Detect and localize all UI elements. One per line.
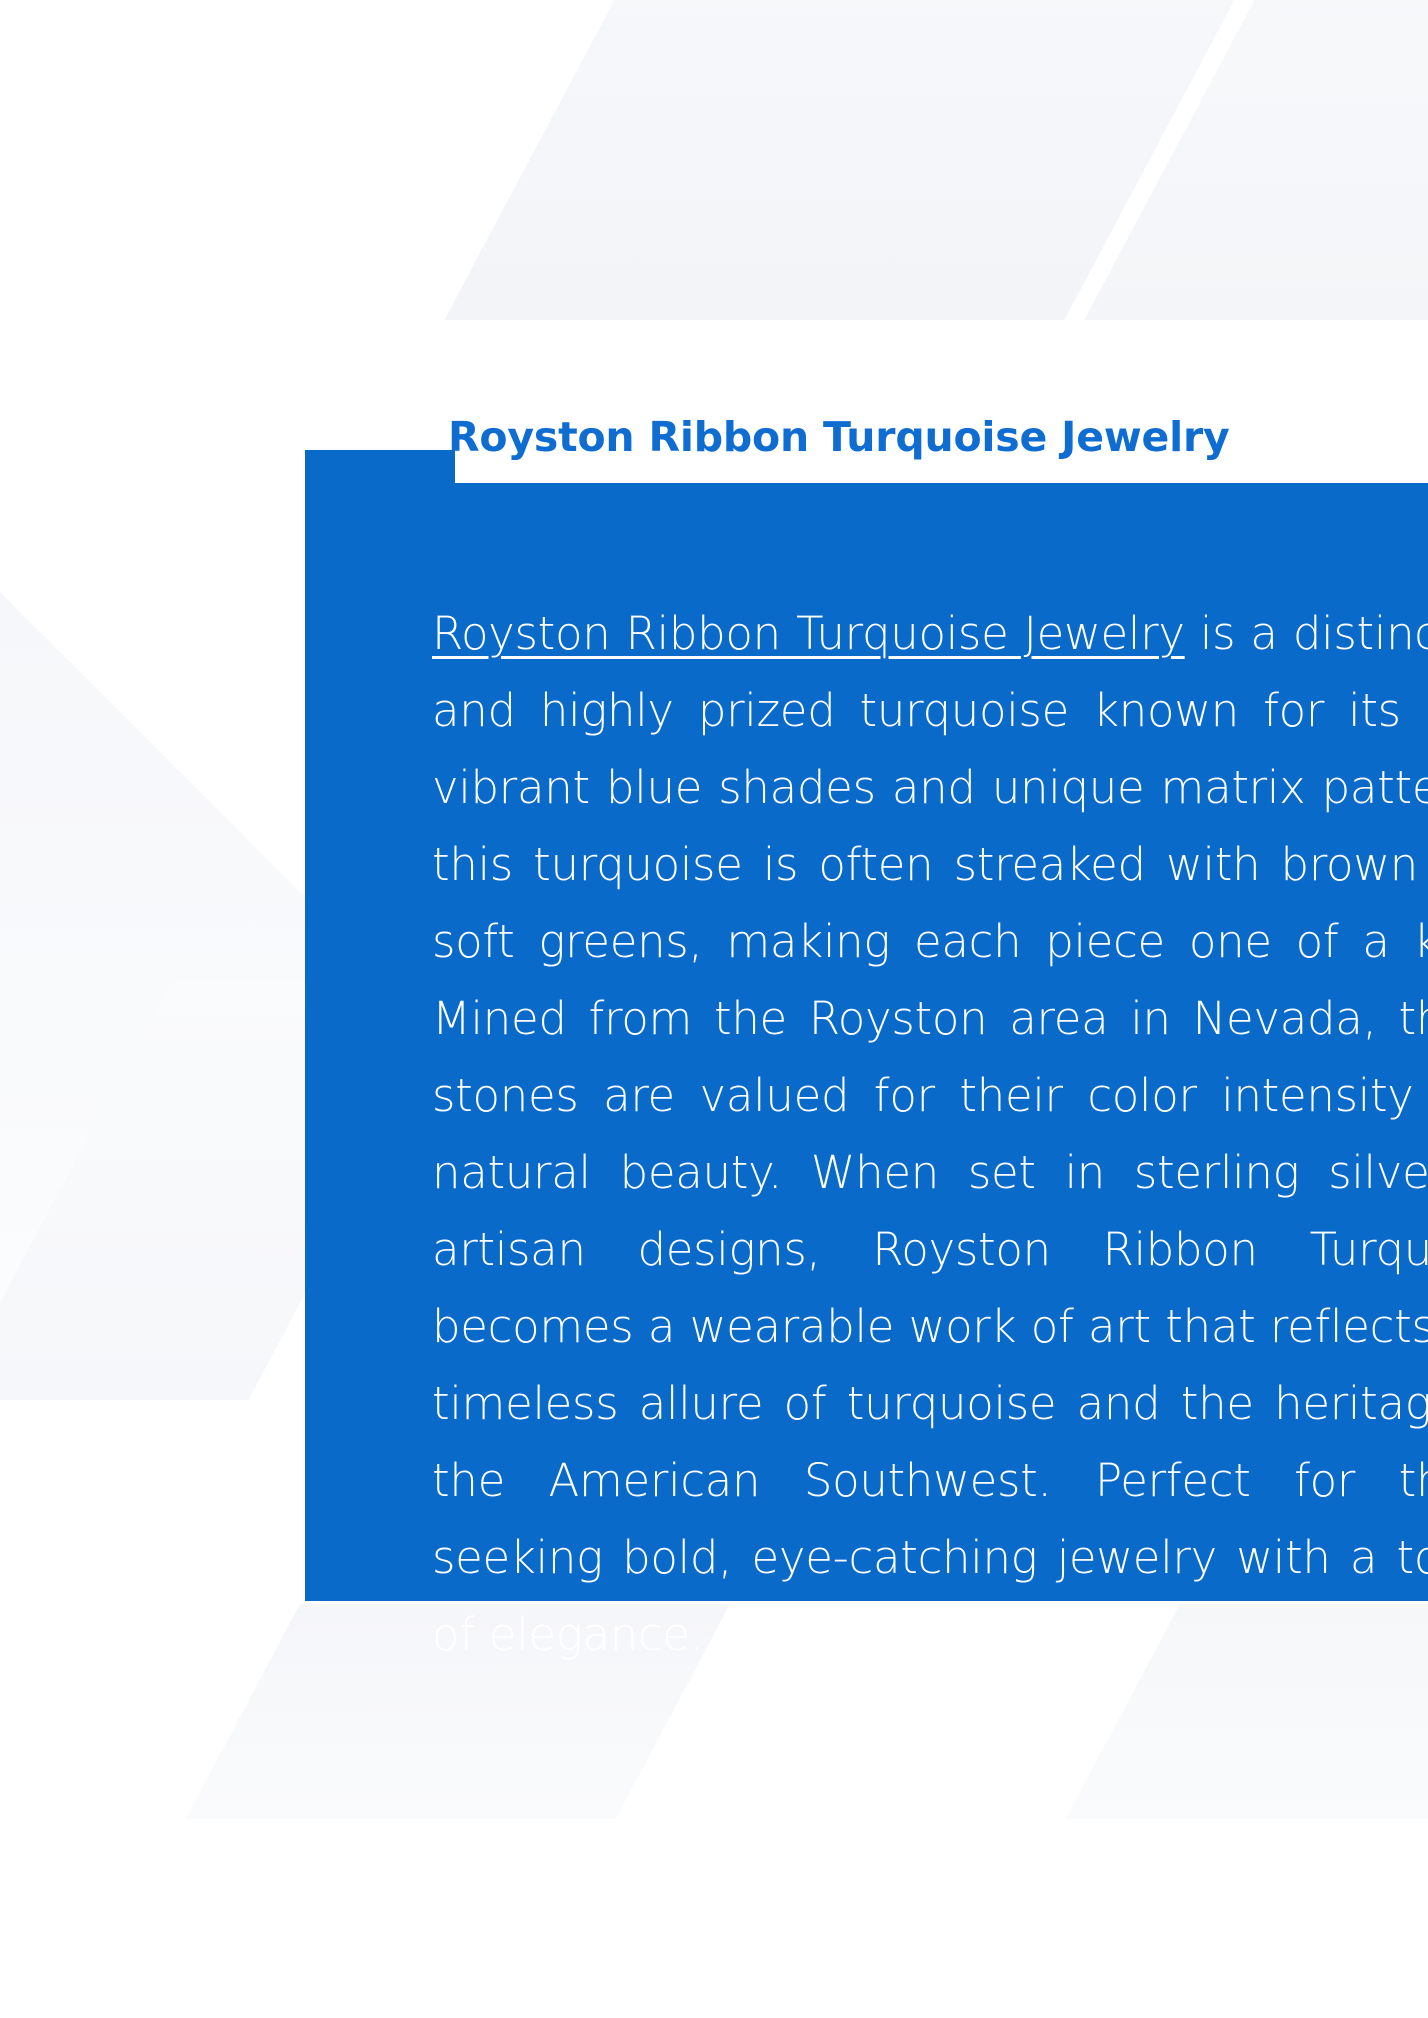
card-paragraph: Royston Ribbon Turquoise Jewelry is a di… [432,595,1428,1673]
page-title: Royston Ribbon Turquoise Jewelry [448,413,1230,461]
watermark-shape-top-left [444,0,1255,320]
royston-ribbon-turquoise-jewelry-link[interactable]: Royston Ribbon Turquoise Jewelry [432,607,1185,660]
page-root: Royston Ribbon Turquoise Jewelry Royston… [0,0,1428,2018]
card-body-text: is a distinctive and highly prized turqu… [432,607,1428,1661]
content-card: Royston Ribbon Turquoise Jewelry is a di… [305,450,1428,1601]
card-corner-tab [305,450,455,484]
watermark-shape-top-right [1084,0,1428,320]
